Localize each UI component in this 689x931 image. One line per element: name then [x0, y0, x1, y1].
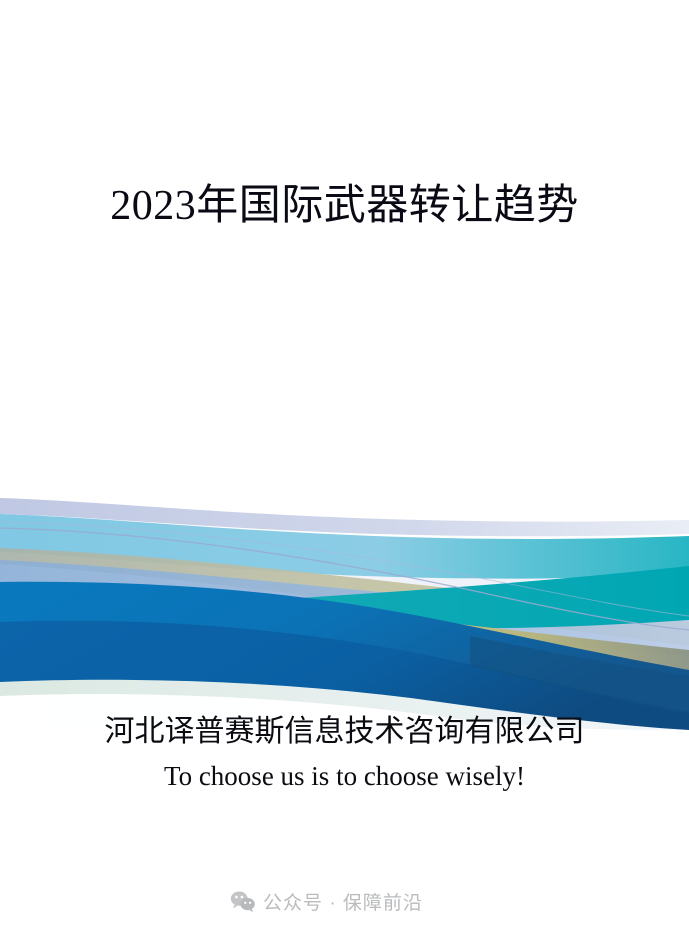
company-block: 河北译普赛斯信息技术咨询有限公司 To choose us is to choo…	[0, 714, 689, 793]
watermark: 公众号 · 保障前沿	[0, 888, 689, 915]
wave-banner-decoration	[0, 470, 689, 730]
company-tagline: To choose us is to choose wisely!	[0, 760, 689, 794]
page-title-block: 2023年国际武器转让趋势	[0, 182, 689, 232]
wechat-icon	[230, 890, 256, 914]
cover-page: 2023年国际武器转让趋势	[0, 0, 689, 931]
company-name: 河北译普赛斯信息技术咨询有限公司	[0, 714, 689, 751]
watermark-label: 公众号 · 保障前沿	[263, 888, 423, 915]
page-title: 2023年国际武器转让趋势	[0, 182, 689, 232]
